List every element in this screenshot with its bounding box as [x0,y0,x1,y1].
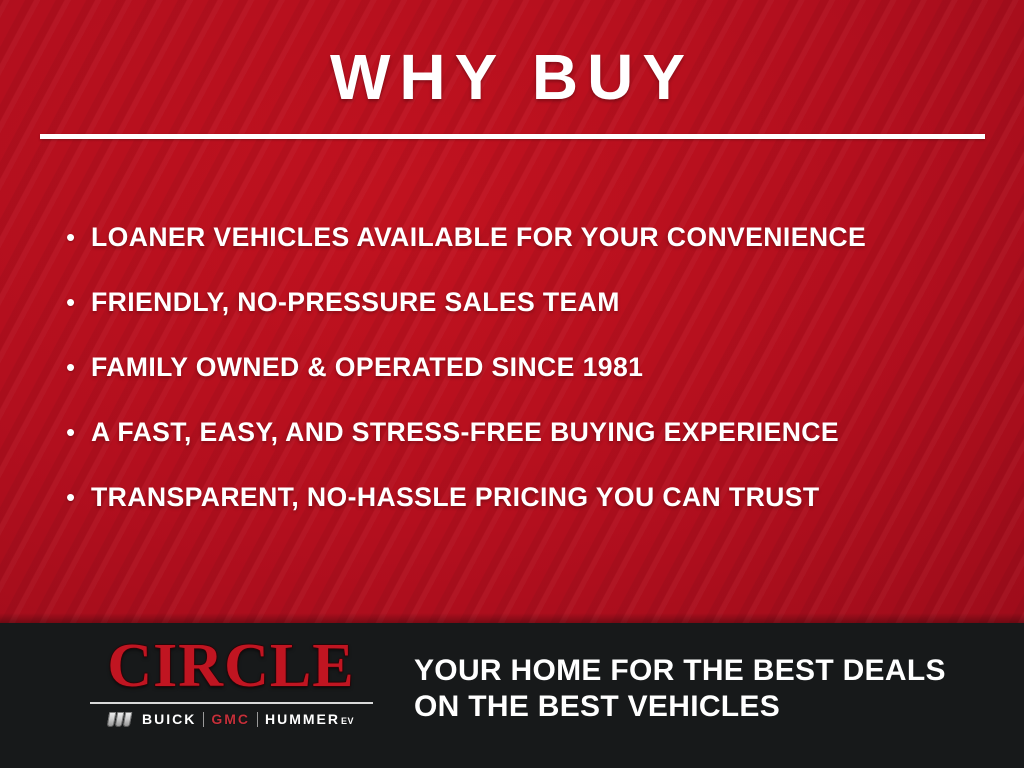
dealership-logo: CIRCLE BUICK GMC HUMMER EV [86,635,376,728]
bullet-marker-icon: • [66,224,91,250]
list-item-label: TRANSPARENT, NO-HASSLE PRICING YOU CAN T… [91,482,982,512]
list-item: • LOANER VEHICLES AVAILABLE FOR YOUR CON… [66,222,996,287]
benefits-list: • LOANER VEHICLES AVAILABLE FOR YOUR CON… [66,222,996,547]
bullet-marker-icon: • [66,354,91,380]
list-item-label: A FAST, EASY, AND STRESS-FREE BUYING EXP… [91,417,982,447]
footer-tagline-line-1: YOUR HOME FOR THE BEST DEALS [414,653,1004,689]
list-item-label: FRIENDLY, NO-PRESSURE SALES TEAM [91,287,982,317]
logo-divider [90,702,373,704]
title-divider [40,134,985,139]
bullet-marker-icon: • [66,484,91,510]
slide-body-panel: WHY BUY • LOANER VEHICLES AVAILABLE FOR … [0,0,1024,623]
list-item: • FAMILY OWNED & OPERATED SINCE 1981 [66,352,996,417]
brand-buick-label: BUICK [142,712,196,727]
bullet-marker-icon: • [66,289,91,315]
bullet-marker-icon: • [66,419,91,445]
footer-tagline-line-2: ON THE BEST VEHICLES [414,689,1004,725]
logo-wordmark: CIRCLE [86,635,376,697]
list-item-label: LOANER VEHICLES AVAILABLE FOR YOUR CONVE… [91,222,982,252]
brand-separator [257,712,258,727]
list-item-label: FAMILY OWNED & OPERATED SINCE 1981 [91,352,982,382]
why-buy-slide: WHY BUY • LOANER VEHICLES AVAILABLE FOR … [0,0,1024,768]
list-item: • FRIENDLY, NO-PRESSURE SALES TEAM [66,287,996,352]
list-item: • TRANSPARENT, NO-HASSLE PRICING YOU CAN… [66,482,996,547]
list-item: • A FAST, EASY, AND STRESS-FREE BUYING E… [66,417,996,482]
brand-hummer-ev-label: EV [341,716,354,727]
page-title: WHY BUY [0,42,1024,112]
brand-hummer-group: HUMMER EV [265,712,354,727]
buick-tri-shield-icon [108,712,131,727]
brand-hummer-label: HUMMER [265,712,340,727]
slide-footer: CIRCLE BUICK GMC HUMMER EV YOU [0,623,1024,768]
brand-separator [203,712,204,727]
brand-strip: BUICK GMC HUMMER EV [86,710,376,728]
brand-gmc-label: GMC [211,712,250,727]
footer-tagline: YOUR HOME FOR THE BEST DEALS ON THE BEST… [414,653,1004,725]
